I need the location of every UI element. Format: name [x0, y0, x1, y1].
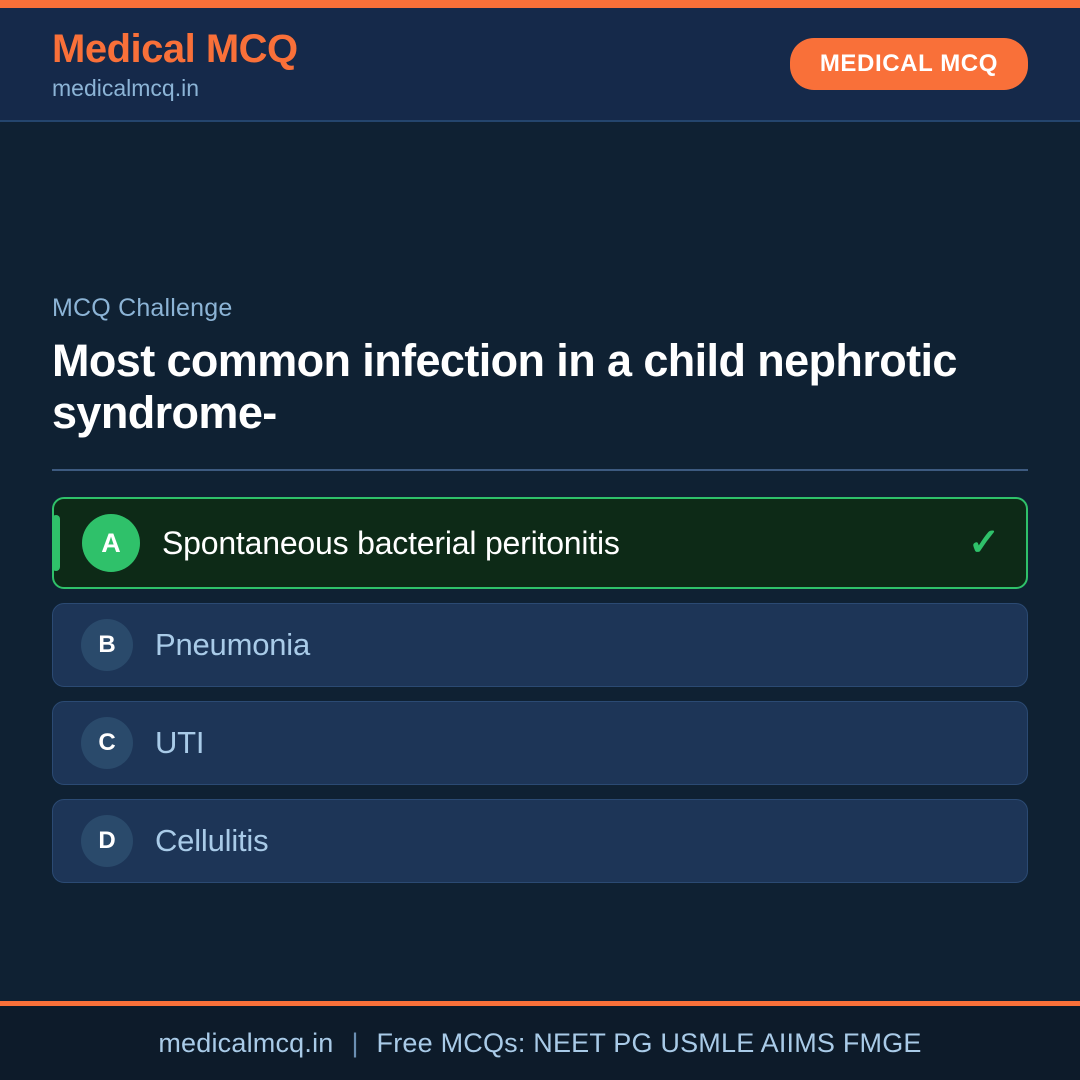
option-letter-badge: A: [82, 514, 140, 572]
section-divider: [52, 469, 1028, 471]
brand-title: Medical MCQ: [52, 29, 298, 69]
option-d[interactable]: D Cellulitis: [52, 799, 1028, 883]
question-block: MCQ Challenge Most common infection in a…: [52, 294, 1028, 439]
brand: Medical MCQ medicalmcq.in: [52, 29, 298, 100]
option-text: Pneumonia: [155, 627, 1001, 663]
main-content: MCQ Challenge Most common infection in a…: [0, 122, 1080, 1001]
option-letter-badge: D: [81, 815, 133, 867]
mcq-card: Medical MCQ medicalmcq.in MEDICAL MCQ MC…: [0, 0, 1080, 1080]
option-text: Spontaneous bacterial peritonitis: [162, 525, 952, 562]
option-text: UTI: [155, 725, 1001, 761]
eyebrow-label: MCQ Challenge: [52, 294, 1028, 323]
option-a[interactable]: A Spontaneous bacterial peritonitis ✓: [52, 497, 1028, 589]
option-letter-badge: B: [81, 619, 133, 671]
footer-tags: Free MCQs: NEET PG USMLE AIIMS FMGE: [377, 1028, 922, 1059]
option-b[interactable]: B Pneumonia: [52, 603, 1028, 687]
correct-accent-bar: [52, 515, 60, 571]
option-letter-badge: C: [81, 717, 133, 769]
option-text: Cellulitis: [155, 823, 1001, 859]
options-list: A Spontaneous bacterial peritonitis ✓ B …: [52, 497, 1028, 883]
footer-separator: |: [352, 1028, 359, 1059]
brand-url: medicalmcq.in: [52, 77, 298, 100]
page-header: Medical MCQ medicalmcq.in MEDICAL MCQ: [0, 8, 1080, 122]
footer-site: medicalmcq.in: [158, 1028, 333, 1059]
option-c[interactable]: C UTI: [52, 701, 1028, 785]
top-accent-bar: [0, 0, 1080, 8]
header-badge: MEDICAL MCQ: [790, 38, 1028, 90]
check-icon: ✓: [968, 524, 1000, 562]
question-title: Most common infection in a child nephrot…: [52, 335, 1028, 439]
page-footer: medicalmcq.in | Free MCQs: NEET PG USMLE…: [0, 1001, 1080, 1080]
